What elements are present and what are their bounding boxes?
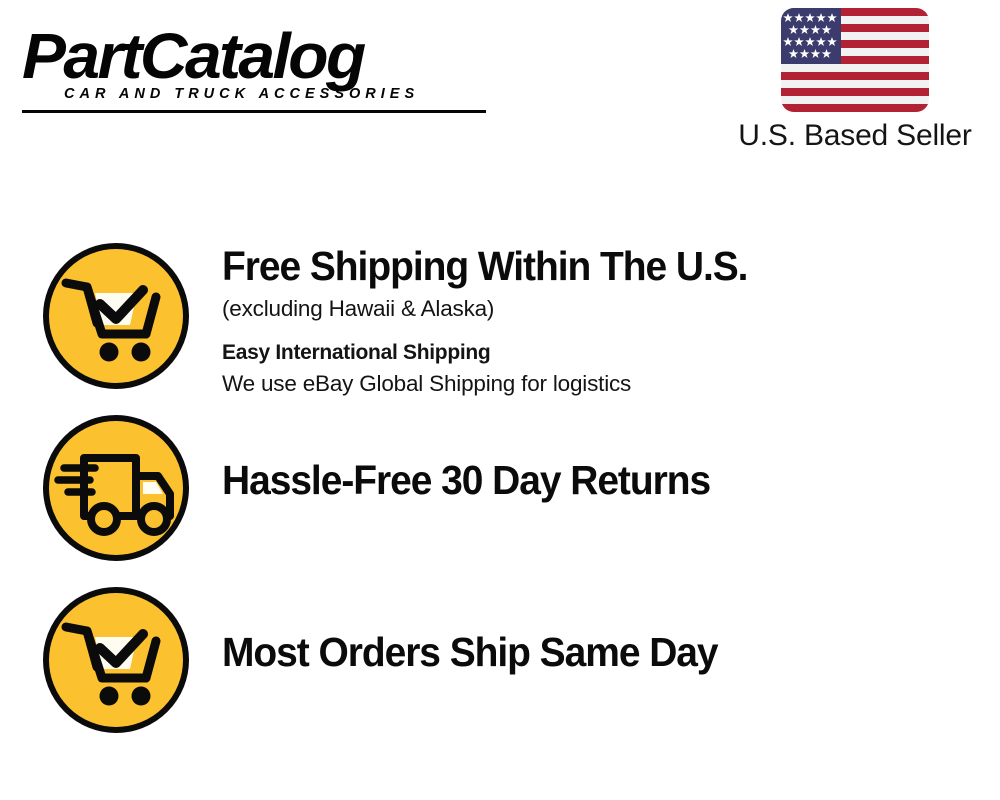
feature-text-block: Hassle-Free 30 Day Returns	[222, 412, 736, 504]
flag-stripe	[781, 104, 929, 112]
page-header: PartCatalog CAR AND TRUCK ACCESSORIES	[0, 0, 1000, 165]
us-based-seller-label: U.S. Based Seller	[720, 118, 990, 154]
feature-row: Hassle-Free 30 Day Returns	[0, 412, 736, 564]
feature-row: Free Shipping Within The U.S. (excluding…	[0, 240, 775, 399]
flag-stripe	[781, 88, 929, 96]
feature-text-block: Free Shipping Within The U.S. (excluding…	[222, 240, 775, 399]
feature-row: Most Orders Ship Same Day	[0, 584, 744, 736]
brand-logo[interactable]: PartCatalog CAR AND TRUCK ACCESSORIES	[22, 22, 492, 114]
brand-logo-underline	[22, 110, 486, 113]
flag-stripe	[781, 72, 929, 80]
shopping-cart-check-icon	[40, 584, 192, 736]
delivery-truck-icon	[40, 412, 192, 564]
feature-title: Hassle-Free 30 Day Returns	[222, 456, 710, 504]
feature-subline-bold: Easy International Shipping	[222, 338, 775, 368]
brand-wordmark: PartCatalog	[22, 22, 506, 90]
feature-text-block: Most Orders Ship Same Day	[222, 584, 744, 676]
flag-canton	[781, 8, 841, 64]
shopping-cart-check-icon	[40, 240, 192, 392]
feature-subline: (excluding Hawaii & Alaska)	[222, 294, 775, 324]
us-flag-icon	[781, 8, 929, 112]
feature-subline: We use eBay Global Shipping for logistic…	[222, 369, 775, 399]
us-based-seller-badge: U.S. Based Seller	[720, 8, 990, 154]
feature-title: Most Orders Ship Same Day	[222, 628, 718, 676]
feature-title: Free Shipping Within The U.S.	[222, 242, 747, 290]
